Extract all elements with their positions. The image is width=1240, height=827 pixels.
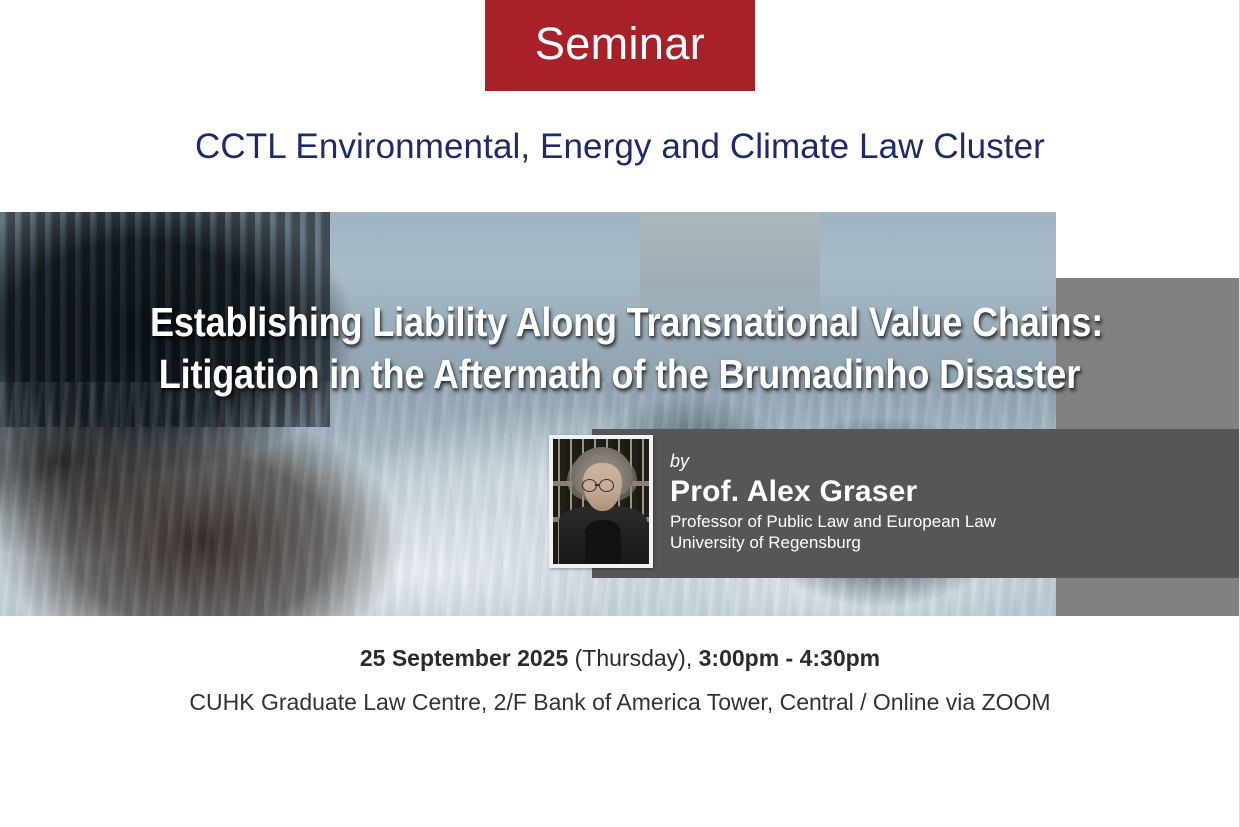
speaker-affiliation-line-1: Professor of Public Law and European Law (670, 511, 1210, 532)
seminar-banner-label: Seminar (535, 21, 705, 66)
seminar-title-line-1: Establishing Liability Along Transnation… (150, 296, 907, 348)
portrait-shirt (585, 520, 621, 564)
event-time: 3:00pm - 4:30pm (699, 645, 881, 671)
seminar-title-line-2: Litigation in the Aftermath of the Bruma… (159, 348, 907, 400)
seminar-title: Establishing Liability Along Transnation… (150, 296, 907, 400)
event-venue: CUHK Graduate Law Centre, 2/F Bank of Am… (0, 687, 1240, 717)
event-day: (Thursday), (575, 645, 693, 671)
speaker-portrait (549, 435, 653, 568)
event-datetime: 25 September 2025 (Thursday), 3:00pm - 4… (0, 643, 1240, 673)
speaker-name: Prof. Alex Graser (670, 474, 1210, 510)
seminar-banner: Seminar (485, 0, 755, 91)
cluster-title: CCTL Environmental, Energy and Climate L… (0, 128, 1240, 167)
speaker-by-label: by (670, 450, 1210, 472)
speaker-affiliation-line-2: University of Regensburg (670, 532, 1210, 553)
event-date: 25 September 2025 (360, 645, 568, 671)
speaker-details: by Prof. Alex Graser Professor of Public… (670, 450, 1210, 553)
seminar-poster: Seminar CCTL Environmental, Energy and C… (0, 0, 1240, 827)
speaker-portrait-art (553, 439, 649, 564)
portrait-glasses-bridge (595, 484, 599, 486)
portrait-glasses-right (599, 479, 614, 492)
